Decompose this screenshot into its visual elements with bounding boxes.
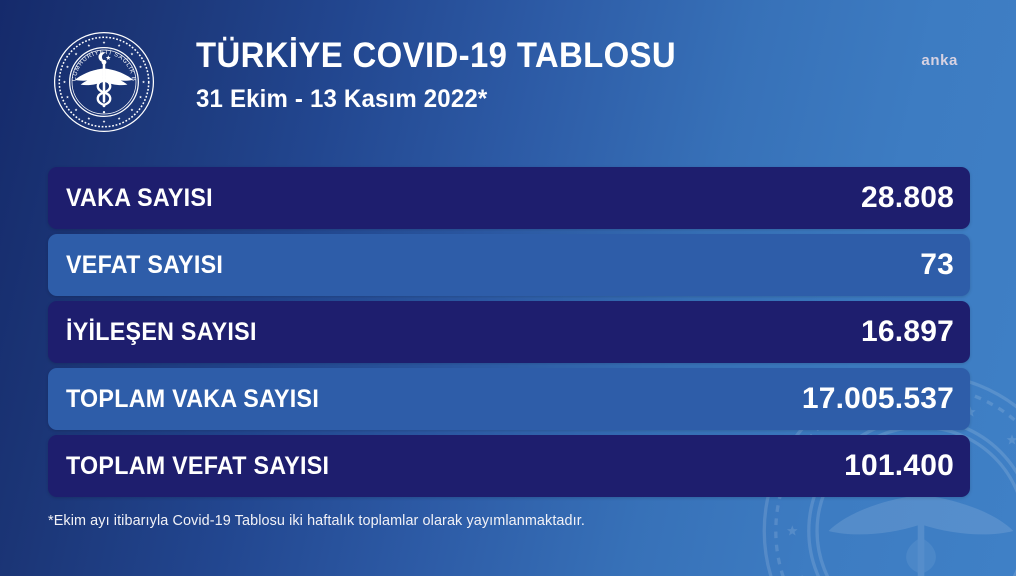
stat-label: İYİLEŞEN SAYISI xyxy=(66,318,257,347)
stat-label: TOPLAM VAKA SAYISI xyxy=(66,385,319,414)
stat-label: VAKA SAYISI xyxy=(66,184,213,213)
stat-value: 17.005.537 xyxy=(802,382,954,416)
ministry-of-health-seal-icon: TÜRKİYE CUMHURİYETİ SAĞLIK BAKANLIĞI xyxy=(52,30,156,134)
covid-table-infographic: TÜRKİYE CUMHURİYETİ SAĞLIK BAKANLIĞI xyxy=(0,0,1016,576)
stat-value: 16.897 xyxy=(861,315,954,349)
brand-watermark-anka: anka xyxy=(921,52,958,69)
page-title: TÜRKİYE COVID-19 TABLOSU xyxy=(196,38,676,75)
date-range-subtitle: 31 Ekim - 13 Kasım 2022* xyxy=(196,85,686,114)
footnote: *Ekim ayı itibarıyla Covid-19 Tablosu ik… xyxy=(48,512,585,529)
table-row: VEFAT SAYISI73 xyxy=(48,234,970,296)
table-row: İYİLEŞEN SAYISI16.897 xyxy=(48,301,970,363)
stats-table: VAKA SAYISI28.808VEFAT SAYISI73İYİLEŞEN … xyxy=(48,167,970,502)
stat-value: 28.808 xyxy=(861,181,954,215)
header: TÜRKİYE CUMHURİYETİ SAĞLIK BAKANLIĞI xyxy=(0,0,1016,152)
stat-value: 73 xyxy=(920,248,954,282)
stat-label: TOPLAM VEFAT SAYISI xyxy=(66,452,329,481)
stat-value: 101.400 xyxy=(844,449,954,483)
table-row: TOPLAM VAKA SAYISI17.005.537 xyxy=(48,368,970,430)
table-row: VAKA SAYISI28.808 xyxy=(48,167,970,229)
stat-label: VEFAT SAYISI xyxy=(66,251,223,280)
title-block: TÜRKİYE COVID-19 TABLOSU 31 Ekim - 13 Ka… xyxy=(196,38,707,114)
table-row: TOPLAM VEFAT SAYISI101.400 xyxy=(48,435,970,497)
